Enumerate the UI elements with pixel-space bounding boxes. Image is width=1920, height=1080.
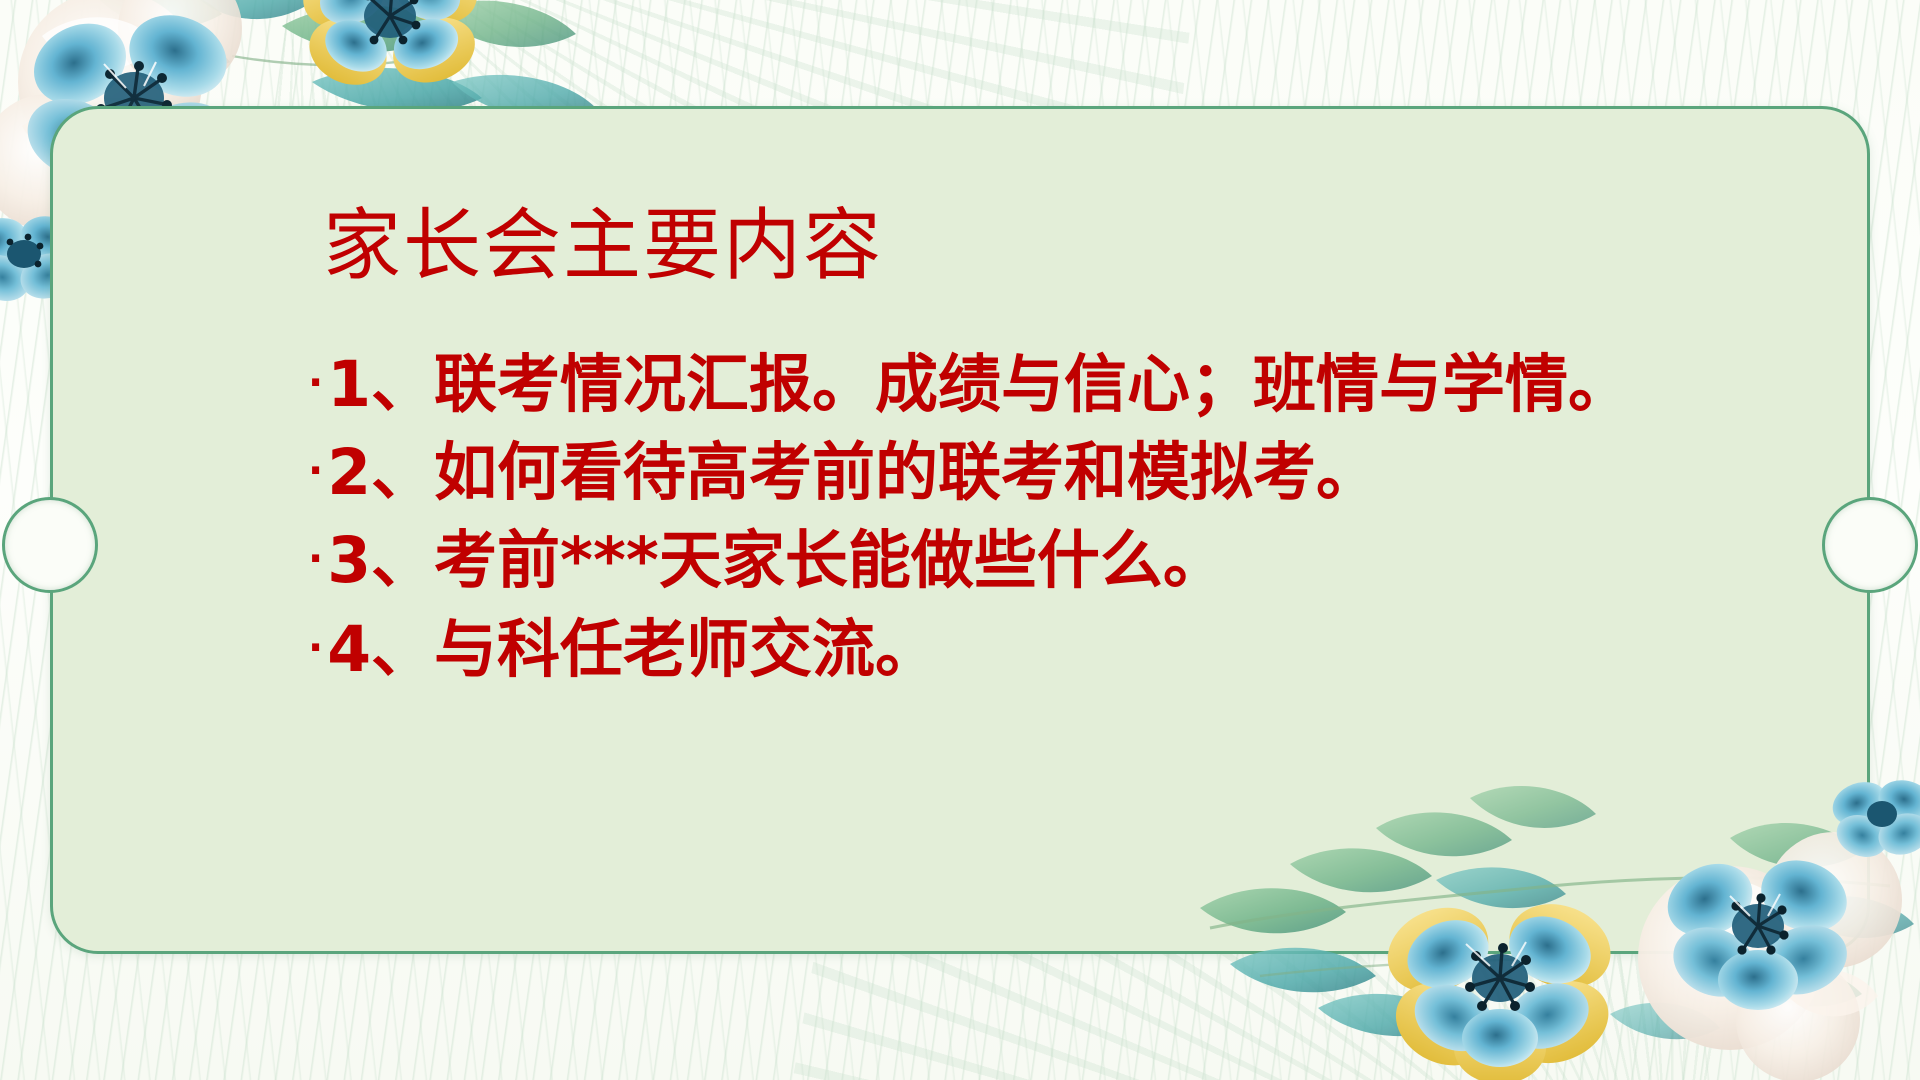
bullet-dot-icon: · xyxy=(308,539,323,579)
bullet-dot-icon: · xyxy=(308,363,323,403)
list-item-text: 4、与科任老师交流。 xyxy=(327,606,938,694)
page-title: 家长会主要内容 xyxy=(323,207,1797,285)
list-item: · 4、与科任老师交流。 xyxy=(308,606,1797,694)
list-item-text: 3、考前***天家长能做些什么。 xyxy=(327,517,1226,605)
list-item: · 1、联考情况汇报。成绩与信心；班情与学情。 xyxy=(308,341,1797,429)
bottom-right-floral-decoration xyxy=(1170,768,1920,1080)
bullet-dot-icon: · xyxy=(308,451,323,491)
agenda-list: · 1、联考情况汇报。成绩与信心；班情与学情。 · 2、如何看待高考前的联考和模… xyxy=(308,341,1797,694)
list-item: · 2、如何看待高考前的联考和模拟考。 xyxy=(308,429,1797,517)
bullet-dot-icon: · xyxy=(308,628,323,668)
slide-canvas: 家长会主要内容 · 1、联考情况汇报。成绩与信心；班情与学情。 · 2、如何看待… xyxy=(0,0,1920,1080)
list-item-text: 1、联考情况汇报。成绩与信心；班情与学情。 xyxy=(327,341,1631,429)
list-item: · 3、考前***天家长能做些什么。 xyxy=(308,517,1797,605)
blue-flower-yellow-ring-bottom-right xyxy=(1374,889,1623,1080)
list-item-text: 2、如何看待高考前的联考和模拟考。 xyxy=(327,429,1379,517)
